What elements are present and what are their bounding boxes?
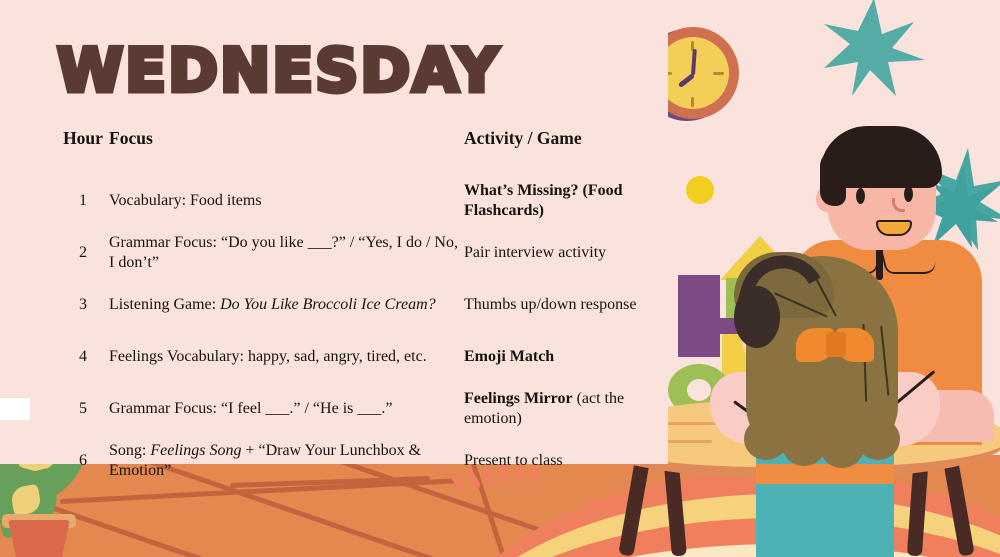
cell-focus: Vocabulary: Food items [109,175,464,227]
table-row: 3 Listening Game: Do You Like Broccoli I… [57,279,657,331]
activity-bold-text: Emoji Match [464,348,554,365]
cell-focus: Grammar Focus: “Do you like ___?” / “Yes… [109,227,464,279]
cell-activity: Thumbs up/down response [464,279,657,331]
cell-focus: Feelings Vocabulary: happy, sad, angry, … [109,331,464,383]
focus-text: Listening Game: [109,296,220,313]
cell-hour: 5 [57,383,109,435]
panel-notch [0,398,30,420]
focus-text: Feelings Vocabulary: happy, sad, angry, … [109,348,427,365]
schedule-table: Hour Focus Activity / Game 1 Vocabulary:… [57,128,657,487]
table-header-row: Hour Focus Activity / Game [57,128,657,175]
activity-rest-text: Present to class [464,452,563,469]
schedule-table-body: 1 Vocabulary: Food items What’s Missing?… [57,175,657,487]
cell-focus: Grammar Focus: “I feel ___.” / “He is __… [109,383,464,435]
schedule-table-wrapper: Hour Focus Activity / Game 1 Vocabulary:… [57,128,657,487]
cell-activity: Present to class [464,435,657,487]
cell-hour: 6 [57,435,109,487]
cell-activity: What’s Missing? (Food Flashcards) [464,175,657,227]
table-row: 6 Song: Feelings Song + “Draw Your Lunch… [57,435,657,487]
focus-text: Vocabulary: Food items [109,192,262,209]
header-focus: Focus [109,128,464,175]
teal-star-top-right [812,0,932,104]
cell-hour: 1 [57,175,109,227]
yellow-dot [686,176,714,204]
cell-activity: Pair interview activity [464,227,657,279]
table-row: 4 Feelings Vocabulary: happy, sad, angry… [57,331,657,383]
focus-italic-text: Do You Like Broccoli Ice Cream? [220,296,436,313]
page-title: WEDNESDAY [57,36,500,106]
cell-activity: Emoji Match [464,331,657,383]
table-row: 2 Grammar Focus: “Do you like ___?” / “Y… [57,227,657,279]
cell-focus: Song: Feelings Song + “Draw Your Lunchbo… [109,435,464,487]
cell-hour: 3 [57,279,109,331]
focus-italic-text: Feelings Song [150,442,241,459]
cell-activity: Feelings Mirror (act the emotion) [464,383,657,435]
girl-character [700,252,960,557]
activity-rest-text: Thumbs up/down response [464,296,636,313]
focus-text: Song: [109,442,150,459]
table-row: 5 Grammar Focus: “I feel ___.” / “He is … [57,383,657,435]
activity-bold-text: Feelings Mirror [464,390,573,407]
cell-hour: 2 [57,227,109,279]
table-row: 1 Vocabulary: Food items What’s Missing?… [57,175,657,227]
header-activity: Activity / Game [464,128,657,175]
activity-bold-text: What’s Missing? (Food Flashcards) [464,182,623,219]
header-hour: Hour [57,128,109,175]
slide-canvas: WEDNESDAY Hour Focus Activity / Game 1 V… [0,0,1000,557]
focus-text: Grammar Focus: “Do you like ___?” / “Yes… [109,234,458,271]
focus-text: Grammar Focus: “I feel ___.” / “He is __… [109,400,392,417]
headphones-earcup [734,286,780,348]
cell-hour: 4 [57,331,109,383]
activity-rest-text: Pair interview activity [464,244,606,261]
cell-focus: Listening Game: Do You Like Broccoli Ice… [109,279,464,331]
